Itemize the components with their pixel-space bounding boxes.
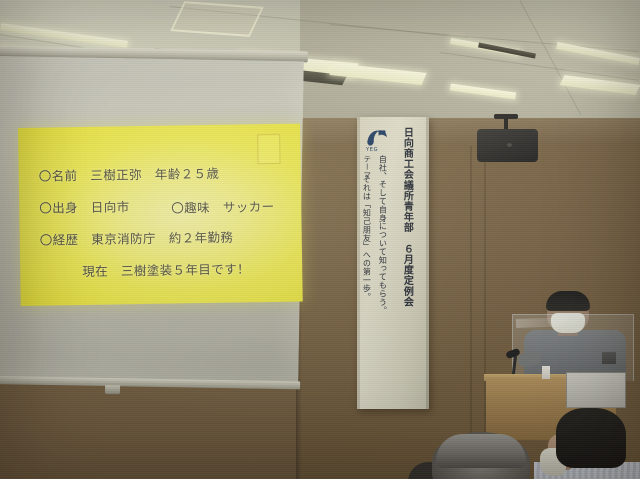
projector-lens-icon [507,143,512,147]
photo-scene: 〇名前 三樹正弥 年齢２５歳 〇出身 日向市 〇趣味 サッカー 〇経歴 東京消防… [0,0,640,479]
slide-placeholder-box [257,134,280,164]
slide-line-origin: 〇出身 日向市 [39,196,130,216]
banner-title: 日向商工会議所青年部 ６月度定例会 [401,127,411,307]
projected-slide: 〇名前 三樹正弥 年齢２５歳 〇出身 日向市 〇趣味 サッカー 〇経歴 東京消防… [18,124,303,306]
slide-line-current: 現在 三樹塗装５年目です！ [82,258,250,280]
banner-theme-line-2: それは「知己朋友」への第一歩。 [362,175,370,301]
slide-line-name: 〇名前 三樹正弥 年齢２５歳 [39,163,220,185]
banner-left-edge [357,117,360,409]
audience-left-hair [436,434,526,468]
ceiling-light-panel [170,1,264,37]
right-wall-top-band [300,118,640,146]
slide-line-career: 〇経歴 東京消防庁 約２年勤務 [40,227,234,249]
audience-member-right [556,408,626,468]
wall-seam [470,146,472,479]
water-cup [542,366,550,379]
laptop-on-podium [566,372,626,408]
banner-right-edge [426,117,429,409]
event-banner: YEG テーマ それは「知己朋友」への第一歩。 自社、そして自身について知っても… [357,117,429,409]
yeg-logo-label: YEG [366,147,378,153]
banner-theme-line-1: 自社、そして自身について知ってもらう。 [378,155,386,315]
slide-line-hobby: 〇趣味 サッカー [171,196,274,217]
projector-mount-plate [494,114,518,119]
screen-pull-tab[interactable] [105,385,120,394]
